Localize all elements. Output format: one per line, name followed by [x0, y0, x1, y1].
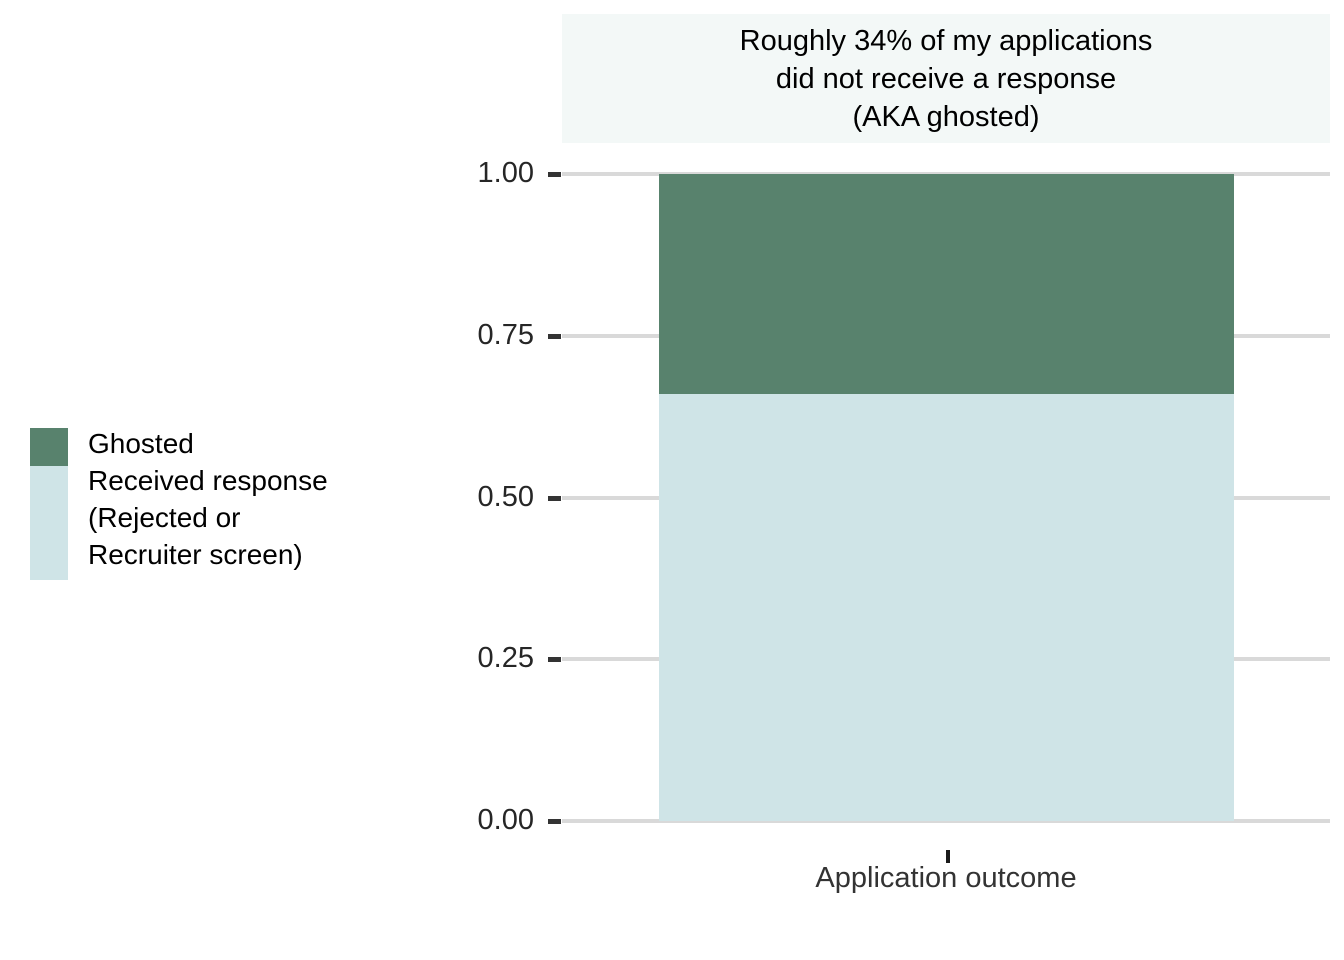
- x-axis-label: Application outcome: [562, 862, 1330, 895]
- y-axis-tick-mark: [548, 496, 561, 501]
- y-axis-tick-label: 0.00: [478, 806, 534, 835]
- chart-title-line-1: Roughly 34% of my applications: [740, 22, 1153, 60]
- y-axis-tick-label: 0.50: [478, 483, 534, 512]
- bar-segment-received-response: [659, 394, 1234, 821]
- chart-title: Roughly 34% of my applications did not r…: [562, 14, 1330, 143]
- y-axis-tick-label: 0.75: [478, 321, 534, 350]
- chart-title-line-3: (AKA ghosted): [853, 98, 1040, 136]
- y-axis-tick-mark: [548, 334, 561, 339]
- y-axis-tick-mark: [548, 819, 561, 824]
- y-axis-tick-label: 0.25: [478, 644, 534, 673]
- plot-panel: [562, 152, 1330, 842]
- stacked-bar-chart: Roughly 34% of my applications did not r…: [0, 0, 1344, 960]
- y-axis-labels: 1.00 0.75 0.50 0.25 0.00: [0, 152, 548, 842]
- y-axis-tick-mark: [548, 172, 561, 177]
- y-axis-tick-mark: [548, 657, 561, 662]
- bar-segment-ghosted: [659, 174, 1234, 394]
- chart-title-line-2: did not receive a response: [776, 60, 1116, 98]
- y-axis-tick-label: 1.00: [478, 159, 534, 188]
